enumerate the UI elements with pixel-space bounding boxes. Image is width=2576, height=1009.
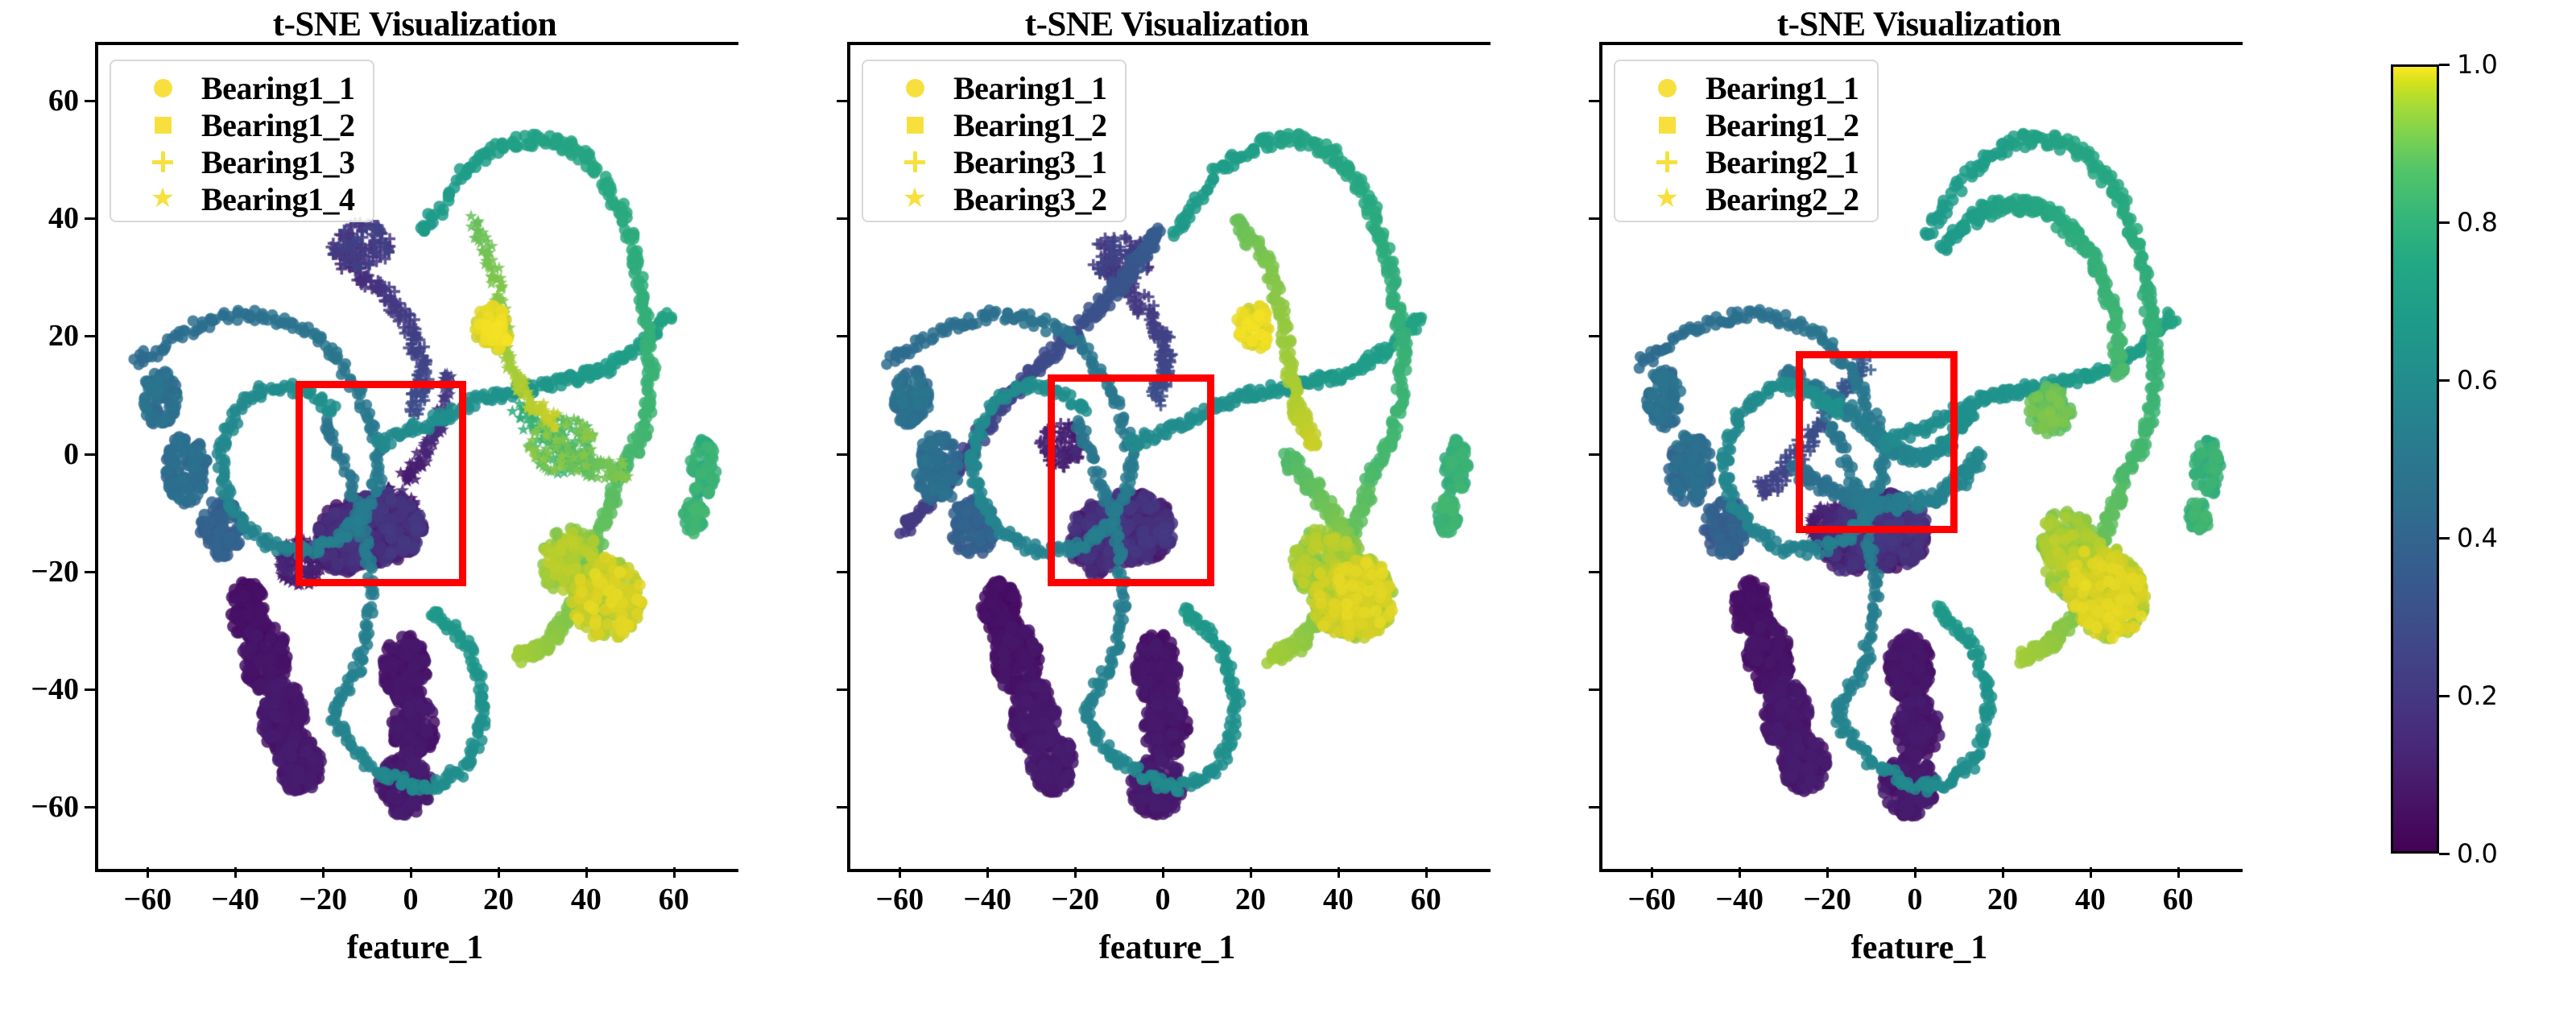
legend-item[interactable]: Bearing2_1 — [1628, 143, 1859, 180]
legend-item[interactable]: Bearing1_1 — [124, 69, 355, 106]
y-tick — [1589, 571, 1599, 573]
y-tick — [85, 335, 95, 337]
x-tick — [585, 867, 588, 878]
legend-marker — [876, 117, 953, 134]
x-tick — [2090, 867, 2092, 878]
colorbar-tick-label: 0.8 — [2457, 207, 2498, 238]
colorbar-tick-label: 1.0 — [2457, 49, 2498, 80]
x-tick — [1914, 867, 1916, 878]
legend-item[interactable]: ★Bearing1_4 — [124, 180, 355, 217]
colorbar-tick-label: 0.6 — [2457, 365, 2498, 395]
x-tick-label: −60 — [1628, 882, 1677, 917]
x-tick — [986, 867, 989, 878]
x-tick — [322, 867, 325, 878]
colorbar-tick — [2439, 695, 2450, 697]
x-tick-label: 0 — [403, 882, 419, 917]
x-tick-label: −40 — [1715, 882, 1764, 917]
legend-marker — [1628, 151, 1706, 172]
star-marker-icon: ★ — [903, 188, 927, 209]
legend-item[interactable]: Bearing1_3 — [124, 143, 355, 180]
legend-item[interactable]: ★Bearing3_2 — [876, 180, 1107, 217]
colorbar-gradient — [2391, 64, 2439, 854]
panel-title: t-SNE Visualization — [845, 5, 1489, 44]
x-tick-label: 20 — [1987, 882, 2018, 917]
legend-marker: ★ — [124, 188, 201, 209]
legend-panel-2[interactable]: Bearing1_1Bearing1_2Bearing3_1★Bearing3_… — [862, 60, 1127, 222]
legend-marker: ★ — [876, 188, 953, 209]
x-tick-label: 60 — [659, 882, 689, 917]
y-tick — [837, 806, 847, 808]
legend-label: Bearing2_2 — [1706, 180, 1859, 218]
circle-marker-icon — [154, 79, 172, 97]
y-tick-label: −20 — [0, 554, 79, 589]
panel-title: t-SNE Visualization — [93, 5, 737, 44]
x-axis-label: feature_1 — [1851, 928, 1988, 967]
y-tick — [85, 453, 95, 456]
roi-rectangle — [1796, 351, 1958, 534]
y-tick-label: 40 — [0, 201, 79, 236]
legend-marker — [124, 151, 201, 172]
circle-marker-icon — [906, 79, 924, 97]
roi-rectangle — [296, 381, 466, 587]
legend-item[interactable]: ★Bearing2_2 — [1628, 180, 1859, 217]
x-tick-label: −20 — [299, 882, 347, 917]
legend-label: Bearing1_1 — [953, 69, 1107, 107]
y-tick — [1589, 100, 1599, 102]
legend-label: Bearing1_4 — [201, 180, 355, 218]
y-tick — [85, 217, 95, 220]
legend-item[interactable]: Bearing1_2 — [1628, 106, 1859, 143]
legend-marker — [1628, 79, 1706, 97]
x-tick — [1651, 867, 1653, 878]
x-tick-label: −40 — [211, 882, 259, 917]
y-tick — [837, 335, 847, 337]
plus-marker-icon — [1656, 151, 1677, 172]
legend-label: Bearing1_1 — [201, 69, 355, 107]
y-tick — [837, 689, 847, 691]
colorbar — [2391, 64, 2439, 854]
roi-rectangle — [1048, 374, 1214, 586]
x-tick-label: −40 — [963, 882, 1011, 917]
x-tick — [1739, 867, 1741, 878]
x-tick-label: −60 — [124, 882, 172, 917]
x-axis-label: feature_1 — [347, 928, 484, 967]
x-tick — [2002, 867, 2004, 878]
panel-title: t-SNE Visualization — [1597, 5, 2241, 44]
y-tick — [1589, 806, 1599, 808]
colorbar-tick-label: 0.0 — [2457, 838, 2498, 869]
colorbar-title: Data Point Order — [2572, 208, 2576, 707]
x-tick-label: 20 — [1235, 882, 1266, 917]
square-marker-icon — [907, 117, 924, 134]
legend-panel-1[interactable]: Bearing1_1Bearing1_2Bearing1_3★Bearing1_… — [110, 60, 374, 222]
x-tick — [899, 867, 901, 878]
y-tick-label: 0 — [0, 436, 79, 472]
legend-label: Bearing1_2 — [201, 106, 355, 144]
x-tick — [1250, 867, 1252, 878]
y-tick — [1589, 453, 1599, 456]
legend-marker: ★ — [1628, 188, 1706, 209]
legend-item[interactable]: Bearing3_1 — [876, 143, 1107, 180]
star-marker-icon: ★ — [1655, 188, 1679, 209]
x-tick-label: 60 — [2163, 882, 2194, 917]
legend-label: Bearing1_2 — [1706, 106, 1859, 144]
x-tick — [147, 867, 149, 878]
tsne-figure: t-SNE Visualization−60−40−20020406060402… — [0, 0, 2576, 1009]
x-tick-label: 40 — [571, 882, 602, 917]
legend-label: Bearing3_1 — [953, 143, 1107, 181]
y-tick — [837, 217, 847, 220]
y-tick-label: 60 — [0, 83, 79, 118]
y-tick — [85, 689, 95, 691]
x-axis-label: feature_1 — [1099, 928, 1236, 967]
x-tick — [410, 867, 412, 878]
colorbar-tick — [2439, 221, 2450, 224]
colorbar-tick — [2439, 853, 2450, 855]
legend-item[interactable]: Bearing1_1 — [1628, 69, 1859, 106]
y-tick — [1589, 335, 1599, 337]
x-tick — [1425, 867, 1428, 878]
square-marker-icon — [1659, 117, 1676, 134]
plus-marker-icon — [904, 151, 925, 172]
legend-marker — [124, 79, 201, 97]
y-tick — [85, 806, 95, 808]
colorbar-tick — [2439, 379, 2450, 382]
square-marker-icon — [155, 117, 172, 134]
legend-label: Bearing1_3 — [201, 143, 355, 181]
colorbar-tick-label: 0.2 — [2457, 680, 2498, 711]
y-tick — [85, 100, 95, 102]
legend-item[interactable]: Bearing1_1 — [876, 69, 1107, 106]
x-tick-label: −60 — [876, 882, 924, 917]
y-tick — [837, 453, 847, 456]
x-tick — [1338, 867, 1340, 878]
x-tick-label: −20 — [1803, 882, 1851, 917]
colorbar-tick-label: 0.4 — [2457, 523, 2498, 553]
x-tick — [1162, 867, 1164, 878]
y-tick — [837, 100, 847, 102]
x-tick-label: 60 — [1411, 882, 1441, 917]
x-tick-label: 20 — [483, 882, 514, 917]
legend-label: Bearing2_1 — [1706, 143, 1859, 181]
legend-item[interactable]: Bearing1_2 — [876, 106, 1107, 143]
y-tick — [85, 571, 95, 573]
legend-label: Bearing1_2 — [953, 106, 1107, 144]
legend-panel-3[interactable]: Bearing1_1Bearing1_2Bearing2_1★Bearing2_… — [1614, 60, 1879, 222]
colorbar-tick — [2439, 64, 2450, 66]
y-tick-label: −60 — [0, 789, 79, 825]
y-tick — [1589, 689, 1599, 691]
y-tick-label: 20 — [0, 318, 79, 354]
x-tick — [234, 867, 237, 878]
y-tick — [837, 571, 847, 573]
x-tick-label: −20 — [1051, 882, 1099, 917]
x-tick — [2177, 867, 2180, 878]
x-tick — [673, 867, 676, 878]
plus-marker-icon — [152, 151, 173, 172]
legend-item[interactable]: Bearing1_2 — [124, 106, 355, 143]
x-tick — [1826, 867, 1829, 878]
x-tick-label: 0 — [1156, 882, 1171, 917]
x-tick — [498, 867, 500, 878]
legend-marker — [876, 151, 953, 172]
legend-marker — [876, 79, 953, 97]
x-tick-label: 40 — [2075, 882, 2106, 917]
x-tick-label: 0 — [1908, 882, 1923, 917]
x-tick-label: 40 — [1323, 882, 1354, 917]
legend-marker — [1628, 117, 1706, 134]
legend-label: Bearing1_1 — [1706, 69, 1859, 107]
colorbar-tick — [2439, 537, 2450, 540]
circle-marker-icon — [1658, 79, 1677, 97]
y-tick-label: −40 — [0, 672, 79, 707]
legend-label: Bearing3_2 — [953, 180, 1107, 218]
legend-marker — [124, 117, 201, 134]
y-tick — [1589, 217, 1599, 220]
star-marker-icon: ★ — [151, 188, 175, 209]
x-tick — [1074, 867, 1077, 878]
